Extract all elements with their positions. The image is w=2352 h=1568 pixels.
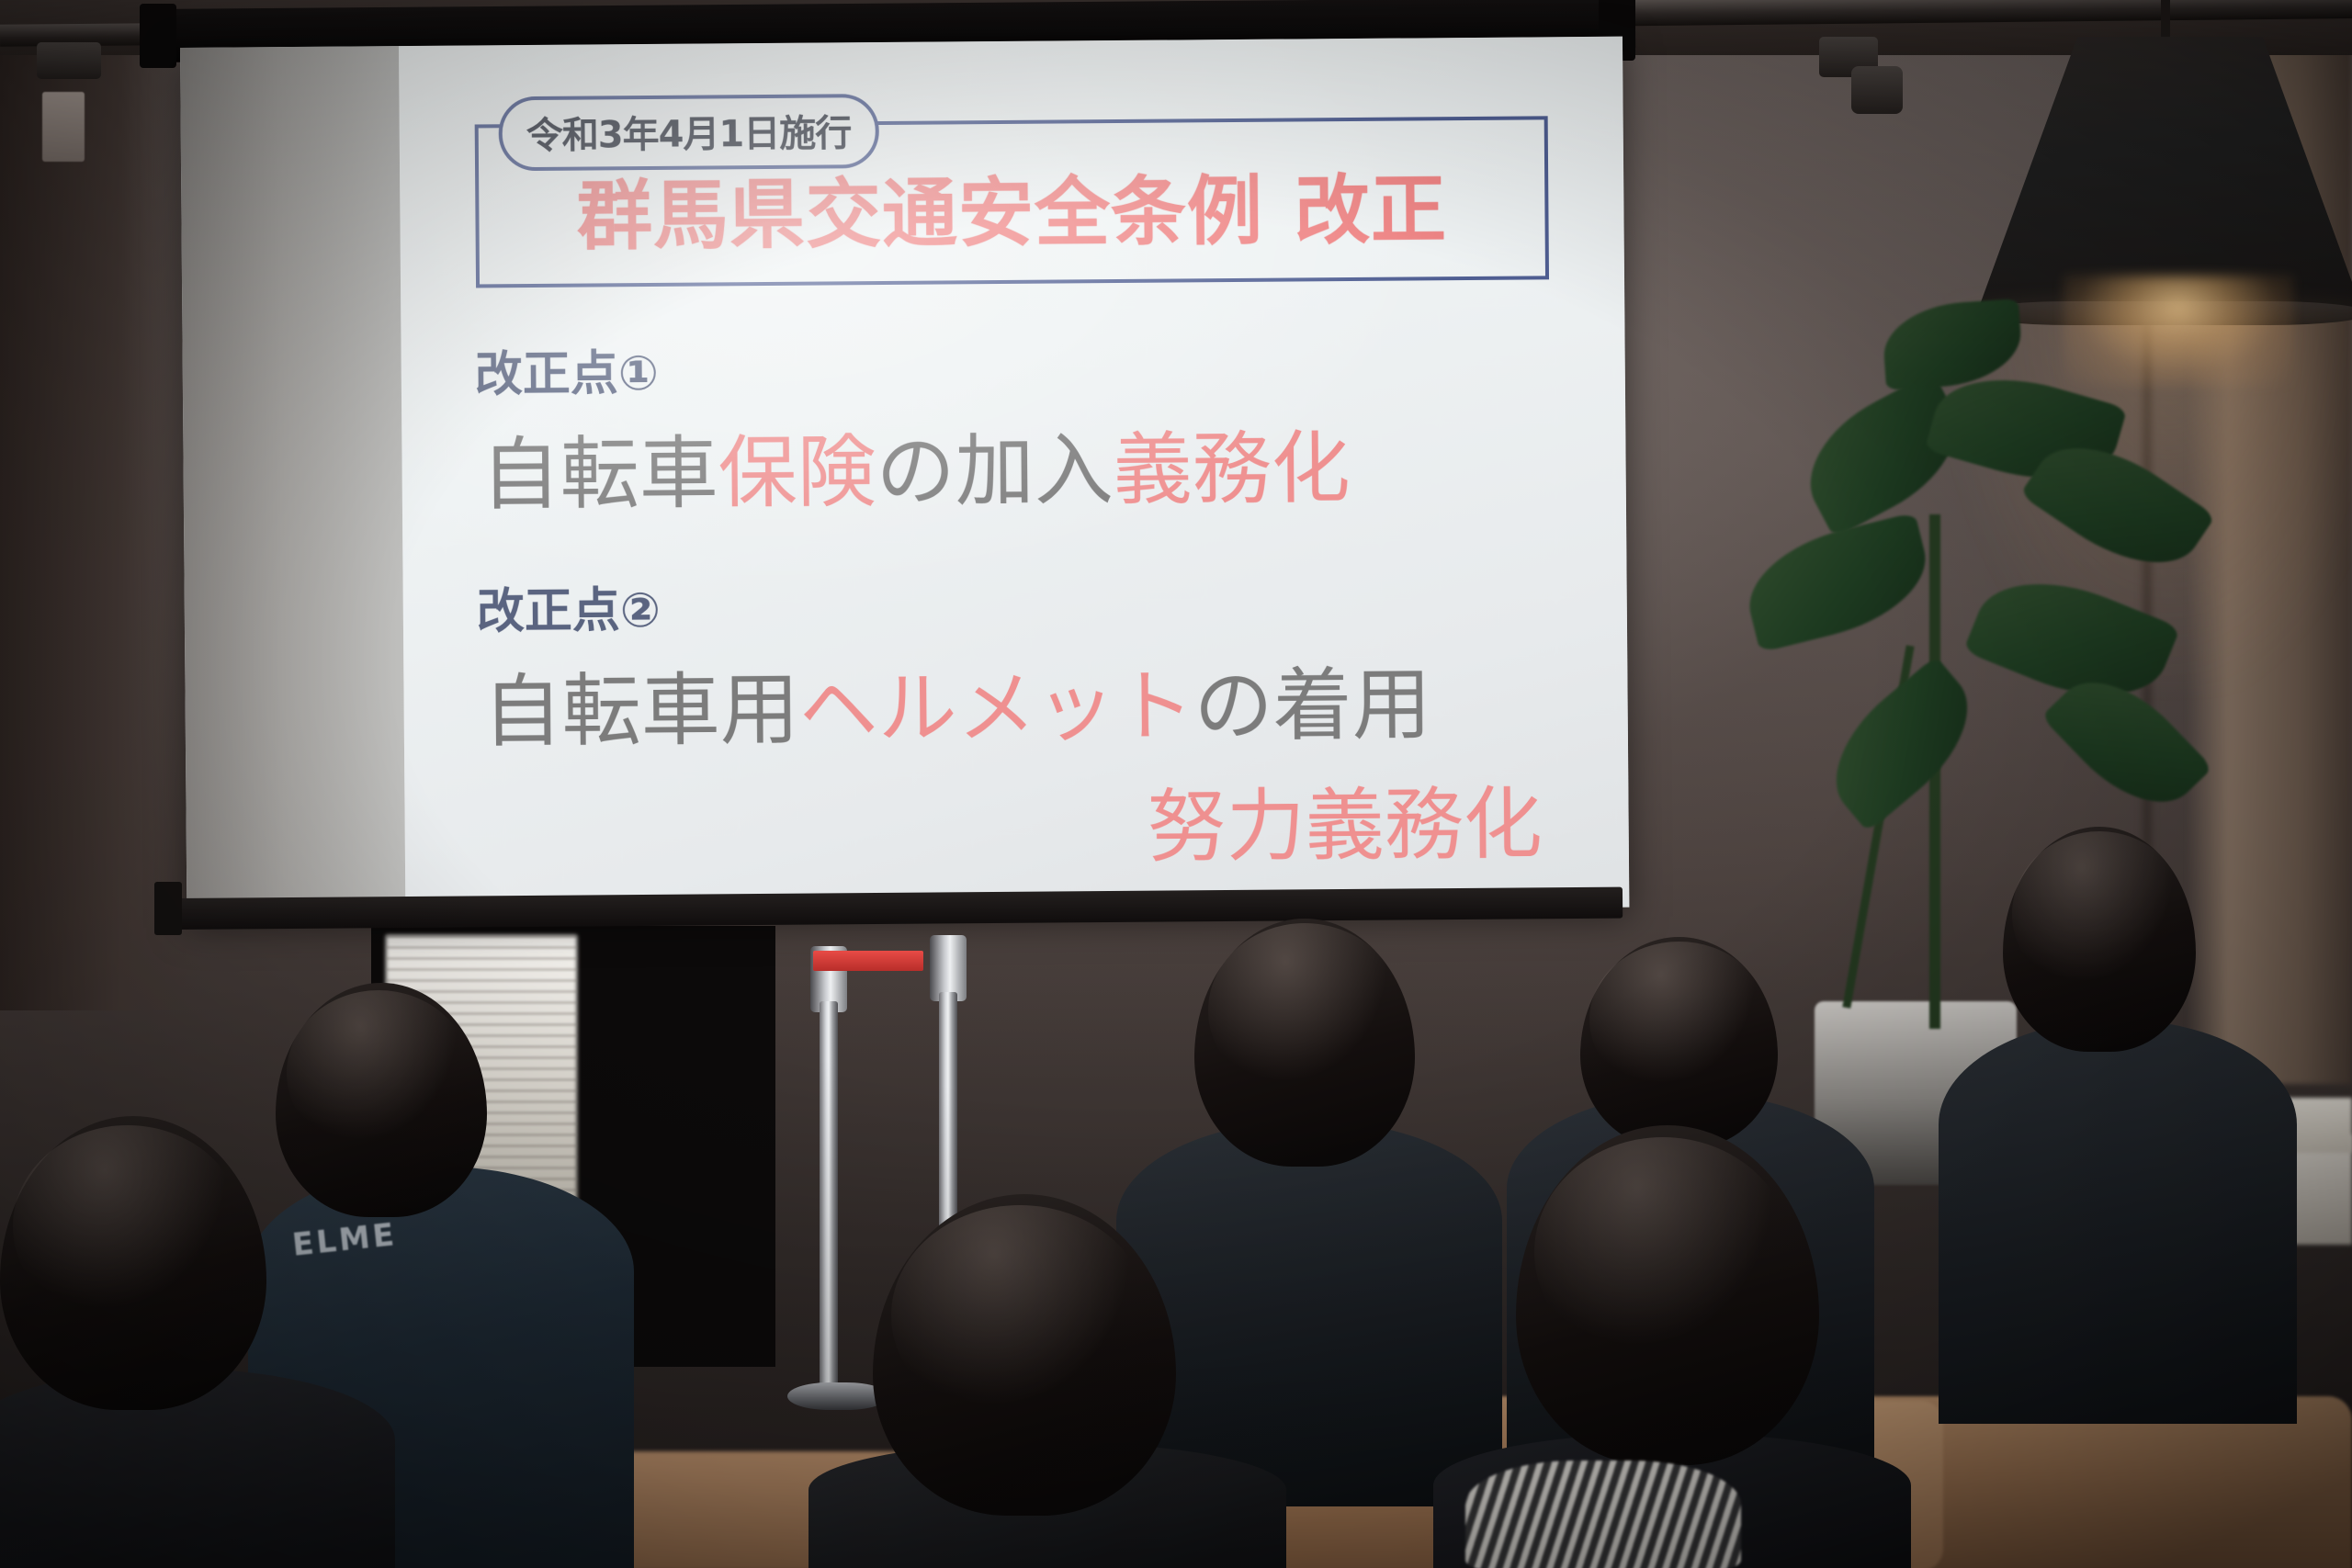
slide-section-2-line-2: 努力義務化 bbox=[483, 759, 1543, 882]
wall-socket bbox=[42, 92, 85, 162]
person-torso bbox=[0, 1369, 395, 1568]
screen-housing-cap-left bbox=[140, 4, 176, 68]
stanchion-belt bbox=[813, 951, 923, 971]
section-2-part-2-highlight: ヘルメット bbox=[798, 660, 1194, 755]
slide-title-box: 令和3年4月1日施行 群馬県交通安全条例改正 bbox=[475, 116, 1549, 288]
section-2-part-1: 自転車用 bbox=[482, 664, 799, 759]
person-torso bbox=[1939, 1020, 2297, 1424]
slide-section-2-line-1: 自転車用ヘルメットの着用 bbox=[482, 638, 1575, 761]
section-1-part-4-highlight: 義務化 bbox=[1113, 423, 1351, 516]
slide-section-1-label: 改正点① bbox=[474, 327, 1572, 404]
slide-surface: 令和3年4月1日施行 群馬県交通安全条例改正 改正点① 自転車保険の加入義務化 … bbox=[399, 37, 1629, 917]
slide-title-main: 群馬県交通安全条例 bbox=[577, 167, 1264, 260]
slide-title-suffix: 改正 bbox=[1295, 166, 1448, 254]
section-2-line-2-highlight: 努力義務化 bbox=[1147, 778, 1543, 873]
track-light-puck-2 bbox=[1851, 66, 1903, 114]
section-2-part-3: の着用 bbox=[1193, 659, 1431, 752]
track-light-puck-3 bbox=[37, 42, 101, 79]
presentation-room-scene: 令和3年4月1日施行 群馬県交通安全条例改正 改正点① 自転車保険の加入義務化 … bbox=[0, 0, 2352, 1568]
section-1-part-3: の加入 bbox=[876, 424, 1114, 518]
stanchion-post-1 bbox=[820, 1001, 838, 1396]
screen-unprojected-band bbox=[180, 46, 405, 919]
person-striped-collar bbox=[1465, 1461, 1741, 1568]
slide-effective-date-badge: 令和3年4月1日施行 bbox=[498, 94, 878, 171]
projection-screen-hem-left bbox=[154, 882, 182, 935]
slide-section-1-line: 自転車保険の加入義務化 bbox=[481, 401, 1573, 525]
section-1-part-2-highlight: 保険 bbox=[718, 426, 876, 519]
projection-screen: 令和3年4月1日施行 群馬県交通安全条例改正 改正点① 自転車保険の加入義務化 … bbox=[180, 37, 1629, 919]
slide-section-2-label: 改正点② bbox=[476, 564, 1574, 641]
wall-left-shadow bbox=[0, 0, 202, 1010]
section-1-part-1: 自転車 bbox=[481, 427, 718, 521]
